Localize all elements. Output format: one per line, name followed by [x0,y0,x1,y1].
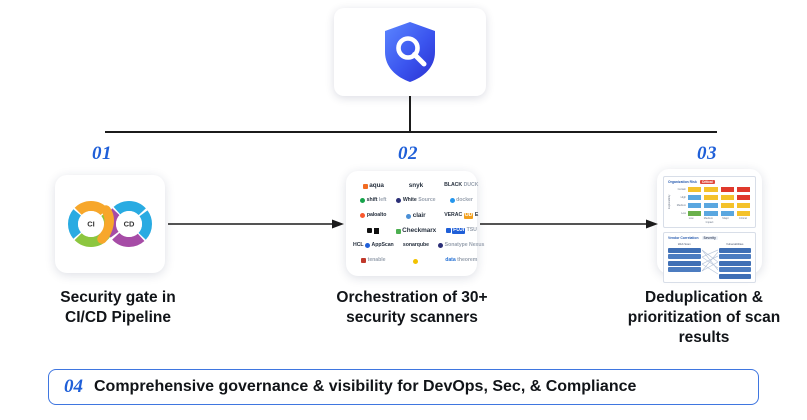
flow-right-column: Vulnerabilities [719,242,752,279]
caption-line: Deduplication & [597,288,807,308]
svg-text:CI: CI [87,220,95,229]
flow-bar [719,248,752,253]
organization-risk-header: Organization Risk Critical [668,180,751,184]
step-caption-2: Orchestration of 30+ security scanners [290,288,534,328]
logo-whitesource: WhiteSource [396,198,435,203]
caption-line: results [597,328,807,348]
heatmap-cell [687,186,702,193]
heatmap-x-tick: Low [683,217,699,220]
connector-stem [409,96,411,133]
flow-bar [668,254,701,259]
heatmap-cell [703,186,718,193]
hero-logo-card [334,8,486,96]
logo-sonatype-nexus: Sonatype Nexus [438,243,484,248]
step-card-cicd[interactable]: CI CD [55,175,165,273]
heatmap-x-ticks: Low Medium Major Critical [683,217,751,220]
caption-line: security scanners [290,308,534,328]
logo-hcl-appscan: HCLAppScan [353,243,394,248]
logo-checkmarx: Checkmarx [396,228,437,235]
logo-sonarqube: sonarqube [403,243,429,248]
flow-bar [719,261,752,266]
logo-bulb [413,259,418,264]
organization-risk-badge: Critical [700,180,715,184]
heatmap-y-tick: Certain [672,188,686,191]
heatmap-cell [736,194,751,201]
flow-links [702,242,718,279]
heatmap-cell [720,194,735,201]
logo-shiftleft: shiftleft [360,198,386,203]
banner-step-number: 04 [64,376,83,398]
logo-aqua: aqua [363,183,384,190]
logo-fujitsu: FUJITSU [446,228,477,233]
step-caption-1: Security gate in CI/CD Pipeline [14,288,222,328]
flow-left-column: Web Scan [668,242,701,279]
flow-bar [668,267,701,272]
heatmap-cell [720,202,735,209]
scanner-logo-grid: aqua snyk BLACKDUCK shiftleft WhiteSourc… [346,171,477,276]
flow-bar [719,254,752,259]
summary-banner[interactable]: 04 Comprehensive governance & visibility… [48,369,759,405]
heatmap-cell [703,194,718,201]
logo-data-theorem: datatheorem [445,258,477,263]
organization-risk-panel: Organization Risk Critical Exploitabilit… [663,176,756,228]
vendor-correlation-header: Vendor Correlation Severity [668,236,751,240]
arrow-step1-to-step2 [168,218,344,230]
banner-text: Comprehensive governance & visibility fo… [94,378,636,396]
heatmap-cell [687,202,702,209]
heatmap-x-tick: Medium [700,217,716,220]
step-card-dashboard[interactable]: Organization Risk Critical Exploitabilit… [657,169,762,274]
logo-blackduck: BLACKDUCK [444,183,478,188]
heatmap-cell [687,194,702,201]
heatmap-cell [720,186,735,193]
step-caption-3: Deduplication & prioritization of scan r… [597,288,807,347]
caption-line: Security gate in [14,288,222,308]
heatmap-y-tick: High [672,196,686,199]
step-number-02: 02 [398,143,418,165]
flow-left-header: Web Scan [668,242,701,246]
heatmap-x-tick: Critical [735,217,751,220]
correlation-flow-diagram: Web Scan [668,242,751,279]
infographic-stage: 01 02 03 [0,0,807,420]
risk-heatmap: Exploitability Certain High Mediu [668,186,751,217]
heatmap-cell [687,210,702,217]
logo-veracode: VERACODE [444,213,478,218]
step-card-scanners[interactable]: aqua snyk BLACKDUCK shiftleft WhiteSourc… [346,171,477,276]
step-number-01: 01 [92,143,112,165]
svg-text:CD: CD [124,220,135,229]
caption-line: CI/CD Pipeline [14,308,222,328]
heatmap-cell [703,210,718,217]
logo-paloalto: paloalto [360,213,386,218]
heatmap-y-tick: Low [672,212,686,215]
flow-bar [668,248,701,253]
logo-blackduck-alt [367,228,379,233]
arrow-step2-to-step3 [480,218,658,230]
caption-line: prioritization of scan [597,308,807,328]
heatmap-y-axis-label: Exploitability [668,186,671,217]
organization-risk-title: Organization Risk [668,180,697,184]
logo-clair: clair [406,213,425,220]
heatmap-x-axis-label: Impact [668,221,751,224]
heatmap-y-tick: Medium [672,204,686,207]
heatmap-cell [720,210,735,217]
heatmap-cell [736,186,751,193]
connector-rail [105,131,717,133]
flow-bar [668,261,701,266]
risk-dashboard: Organization Risk Critical Exploitabilit… [657,169,762,274]
heatmap-cell [736,210,751,217]
heatmap-cell [703,202,718,209]
logo-snyk: snyk [409,183,423,190]
flow-right-header: Vulnerabilities [719,242,752,246]
cicd-infinity-loop: CI CD [55,175,165,273]
vendor-correlation-title: Vendor Correlation [668,236,699,240]
heatmap-cell [736,202,751,209]
vendor-correlation-panel: Vendor Correlation Severity Web Scan [663,232,756,283]
caption-line: Orchestration of 30+ [290,288,534,308]
vendor-correlation-tab[interactable]: Severity [702,236,718,240]
logo-docker: docker [450,198,473,203]
shield-search-icon [381,20,439,84]
flow-bar [719,267,752,272]
logo-tenable: tenable [361,258,385,263]
flow-bar [719,274,752,279]
heatmap-x-tick: Major [718,217,734,220]
step-number-03: 03 [697,143,717,165]
